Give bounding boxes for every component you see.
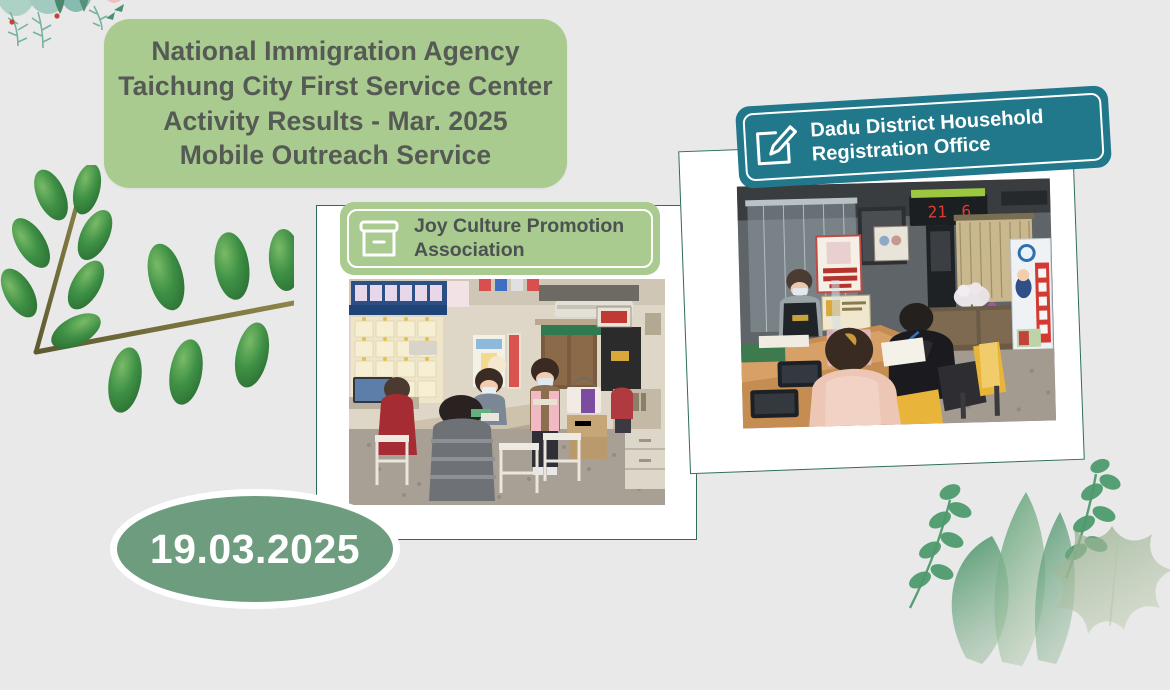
title-banner: National Immigration Agency Taichung Cit… xyxy=(104,19,567,188)
poster-canvas: 21 6 xyxy=(0,0,1170,656)
archive-box-icon xyxy=(356,218,402,260)
page-title: National Immigration Agency Taichung Cit… xyxy=(106,34,564,173)
label-dadu-text: Dadu District Household Registration Off… xyxy=(810,106,1046,167)
office-scene-left xyxy=(349,279,665,505)
translucent-foliage-decoration xyxy=(880,430,1170,680)
photo-dadu-registration-office: 21 6 xyxy=(737,178,1056,428)
office-scene-right: 21 6 xyxy=(737,178,1056,428)
leaf-branch-icon xyxy=(0,165,294,420)
foliage-icon xyxy=(880,430,1170,685)
edit-pencil-icon xyxy=(750,121,803,170)
label-joy-culture-text: Joy Culture Promotion Association xyxy=(414,215,624,262)
right-photo-card: 21 6 xyxy=(678,137,1085,474)
label-joy-culture-association: Joy Culture Promotion Association xyxy=(340,202,660,275)
svg-text:21: 21 xyxy=(927,202,947,221)
date-text: 19.03.2025 xyxy=(150,526,360,573)
date-badge: 19.03.2025 xyxy=(110,489,400,609)
photo-joy-culture-association xyxy=(349,279,665,505)
green-leaf-branch-decoration xyxy=(0,165,294,415)
